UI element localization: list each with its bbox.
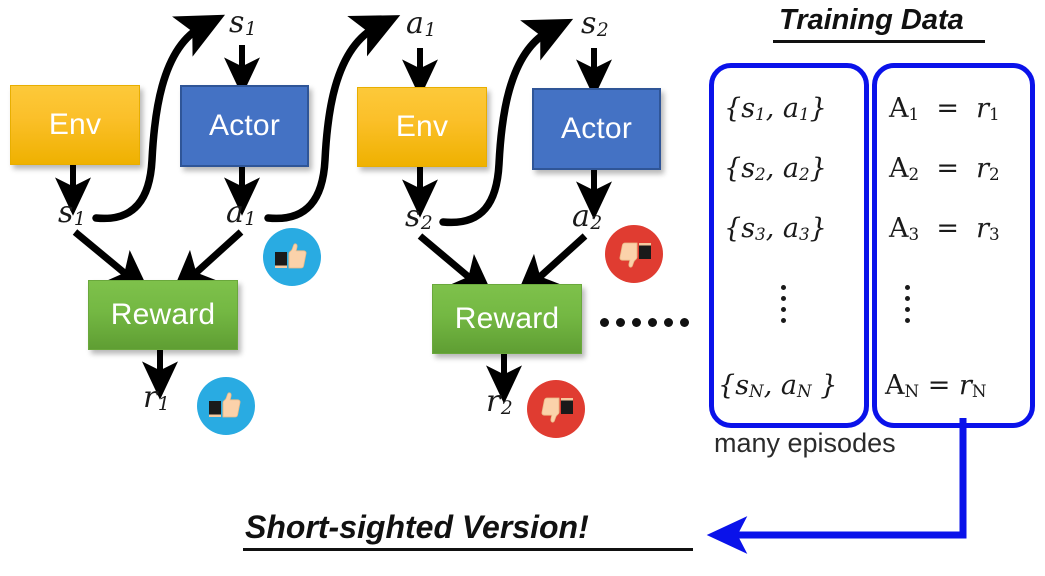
pair-row-3: {s3, a3} [724, 215, 827, 243]
block-label: Actor [209, 111, 280, 141]
label-s2-out: s2 [405, 202, 433, 234]
page-title-underline [243, 548, 693, 551]
advantage-row-1: A1 = r1 [889, 95, 1000, 123]
block-label: Env [49, 110, 101, 140]
block-env-1[interactable]: Env [10, 85, 140, 165]
reward-input-arrows [75, 232, 585, 284]
continuation-ellipsis [600, 318, 689, 327]
block-actor-1[interactable]: Actor [180, 85, 309, 167]
pair-row-n: {sN, aN } [718, 372, 837, 400]
pair-row-1: {s1, a1} [724, 95, 827, 123]
page-title: Short-sighted Version! [245, 509, 589, 546]
block-label: Reward [111, 300, 216, 330]
label-a1-out: a1 [226, 198, 256, 230]
training-data-title: Training Data [779, 4, 964, 37]
thumbs-up-icon [263, 228, 321, 286]
advantage-row-n: AN = rN [885, 372, 987, 400]
pairs-vertical-ellipsis [781, 285, 786, 323]
thumbs-down-icon [605, 225, 663, 283]
pair-row-2: {s2, a2} [724, 155, 827, 183]
advantage-row-3: A3 = r3 [889, 215, 1000, 243]
block-label: Actor [561, 114, 632, 144]
block-reward-2[interactable]: Reward [432, 284, 582, 354]
label-a2-out: a2 [572, 202, 602, 234]
label-a1-top: a1 [406, 9, 436, 41]
block-reward-1[interactable]: Reward [88, 280, 238, 350]
block-label: Reward [455, 304, 560, 334]
block-env-2[interactable]: Env [357, 87, 487, 167]
diagram-canvas: Env Actor Env Actor Reward Reward s1 s1 … [0, 0, 1045, 576]
block-actor-2[interactable]: Actor [532, 88, 661, 170]
block-label: Env [396, 112, 448, 142]
thumbs-up-icon [197, 377, 255, 435]
label-s2-top: s2 [581, 9, 609, 41]
label-s1-out: s1 [58, 198, 86, 230]
label-r1: r1 [143, 383, 170, 415]
advantage-vertical-ellipsis [905, 285, 910, 323]
training-data-title-underline [773, 40, 985, 43]
thumbs-down-icon [527, 380, 585, 438]
many-episodes-label: many episodes [714, 428, 896, 459]
label-r2: r2 [486, 387, 513, 419]
label-s1-top: s1 [229, 8, 257, 40]
advantage-row-2: A2 = r2 [889, 155, 1000, 183]
